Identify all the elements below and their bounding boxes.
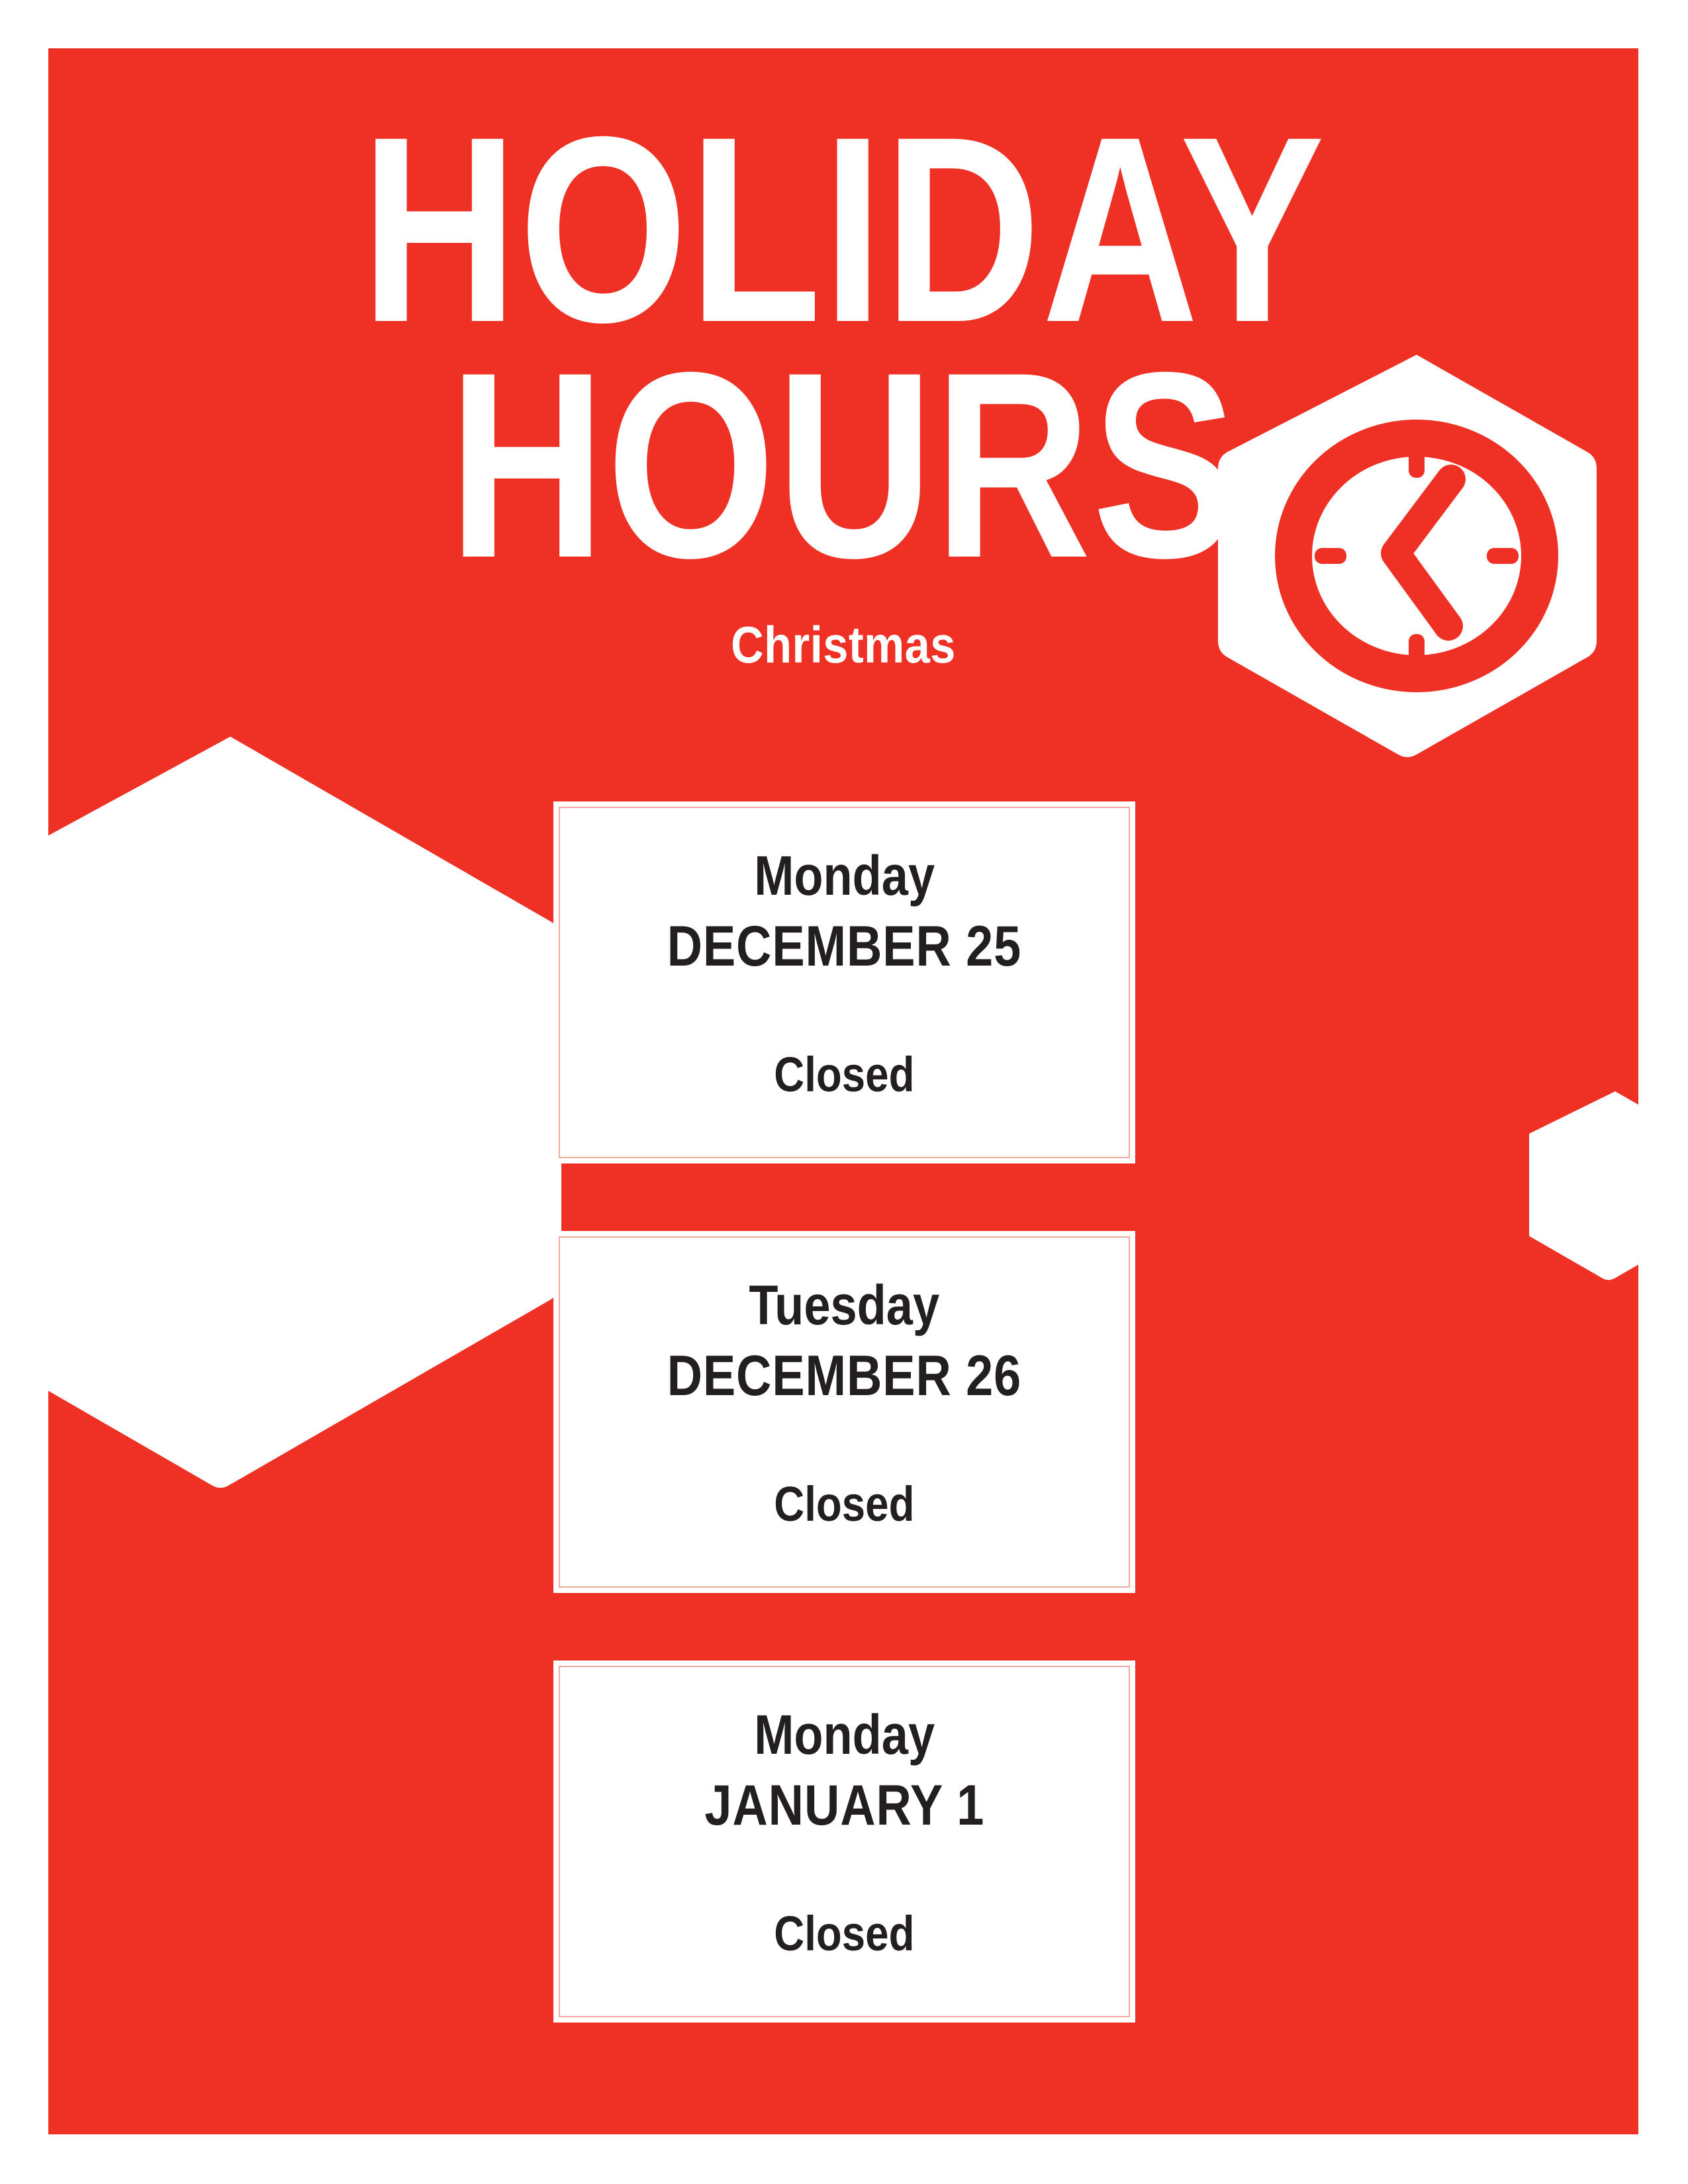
schedule-card: Tuesday DECEMBER 26 Closed bbox=[553, 1231, 1135, 1593]
schedule-date-label: JANUARY 1 bbox=[704, 1776, 984, 1835]
holiday-hours-poster: HOLIDAY HOURS Christmas Monday DECEMBER … bbox=[0, 0, 1688, 2184]
page-title: HOLIDAY HOURS bbox=[48, 112, 1638, 583]
schedule-card: Monday DECEMBER 25 Closed bbox=[553, 801, 1135, 1163]
schedule-status-label: Closed bbox=[774, 1909, 914, 1958]
poster-red-panel: HOLIDAY HOURS Christmas Monday DECEMBER … bbox=[48, 48, 1638, 2134]
title-line-holiday: HOLIDAY bbox=[191, 112, 1495, 347]
schedule-list: Monday DECEMBER 25 Closed Tuesday DECEMB… bbox=[553, 801, 1135, 2023]
schedule-date-label: DECEMBER 26 bbox=[667, 1346, 1022, 1406]
schedule-card-inner: Monday DECEMBER 25 Closed bbox=[559, 807, 1130, 1158]
schedule-card-inner: Monday JANUARY 1 Closed bbox=[559, 1666, 1130, 2017]
poster-subtitle: Christmas bbox=[144, 619, 1543, 670]
schedule-status-label: Closed bbox=[774, 1480, 914, 1529]
schedule-day-label: Tuesday bbox=[749, 1276, 940, 1334]
schedule-date-label: DECEMBER 25 bbox=[667, 917, 1022, 976]
title-line-hours: HOURS bbox=[191, 347, 1495, 583]
schedule-card: Monday JANUARY 1 Closed bbox=[553, 1661, 1135, 2023]
hexagon-accent-icon bbox=[1529, 1089, 1638, 1281]
hexagon-corner-icon bbox=[48, 730, 561, 1491]
schedule-status-label: Closed bbox=[774, 1050, 914, 1099]
schedule-card-inner: Tuesday DECEMBER 26 Closed bbox=[559, 1236, 1130, 1588]
schedule-day-label: Monday bbox=[754, 846, 935, 905]
schedule-day-label: Monday bbox=[754, 1706, 935, 1764]
